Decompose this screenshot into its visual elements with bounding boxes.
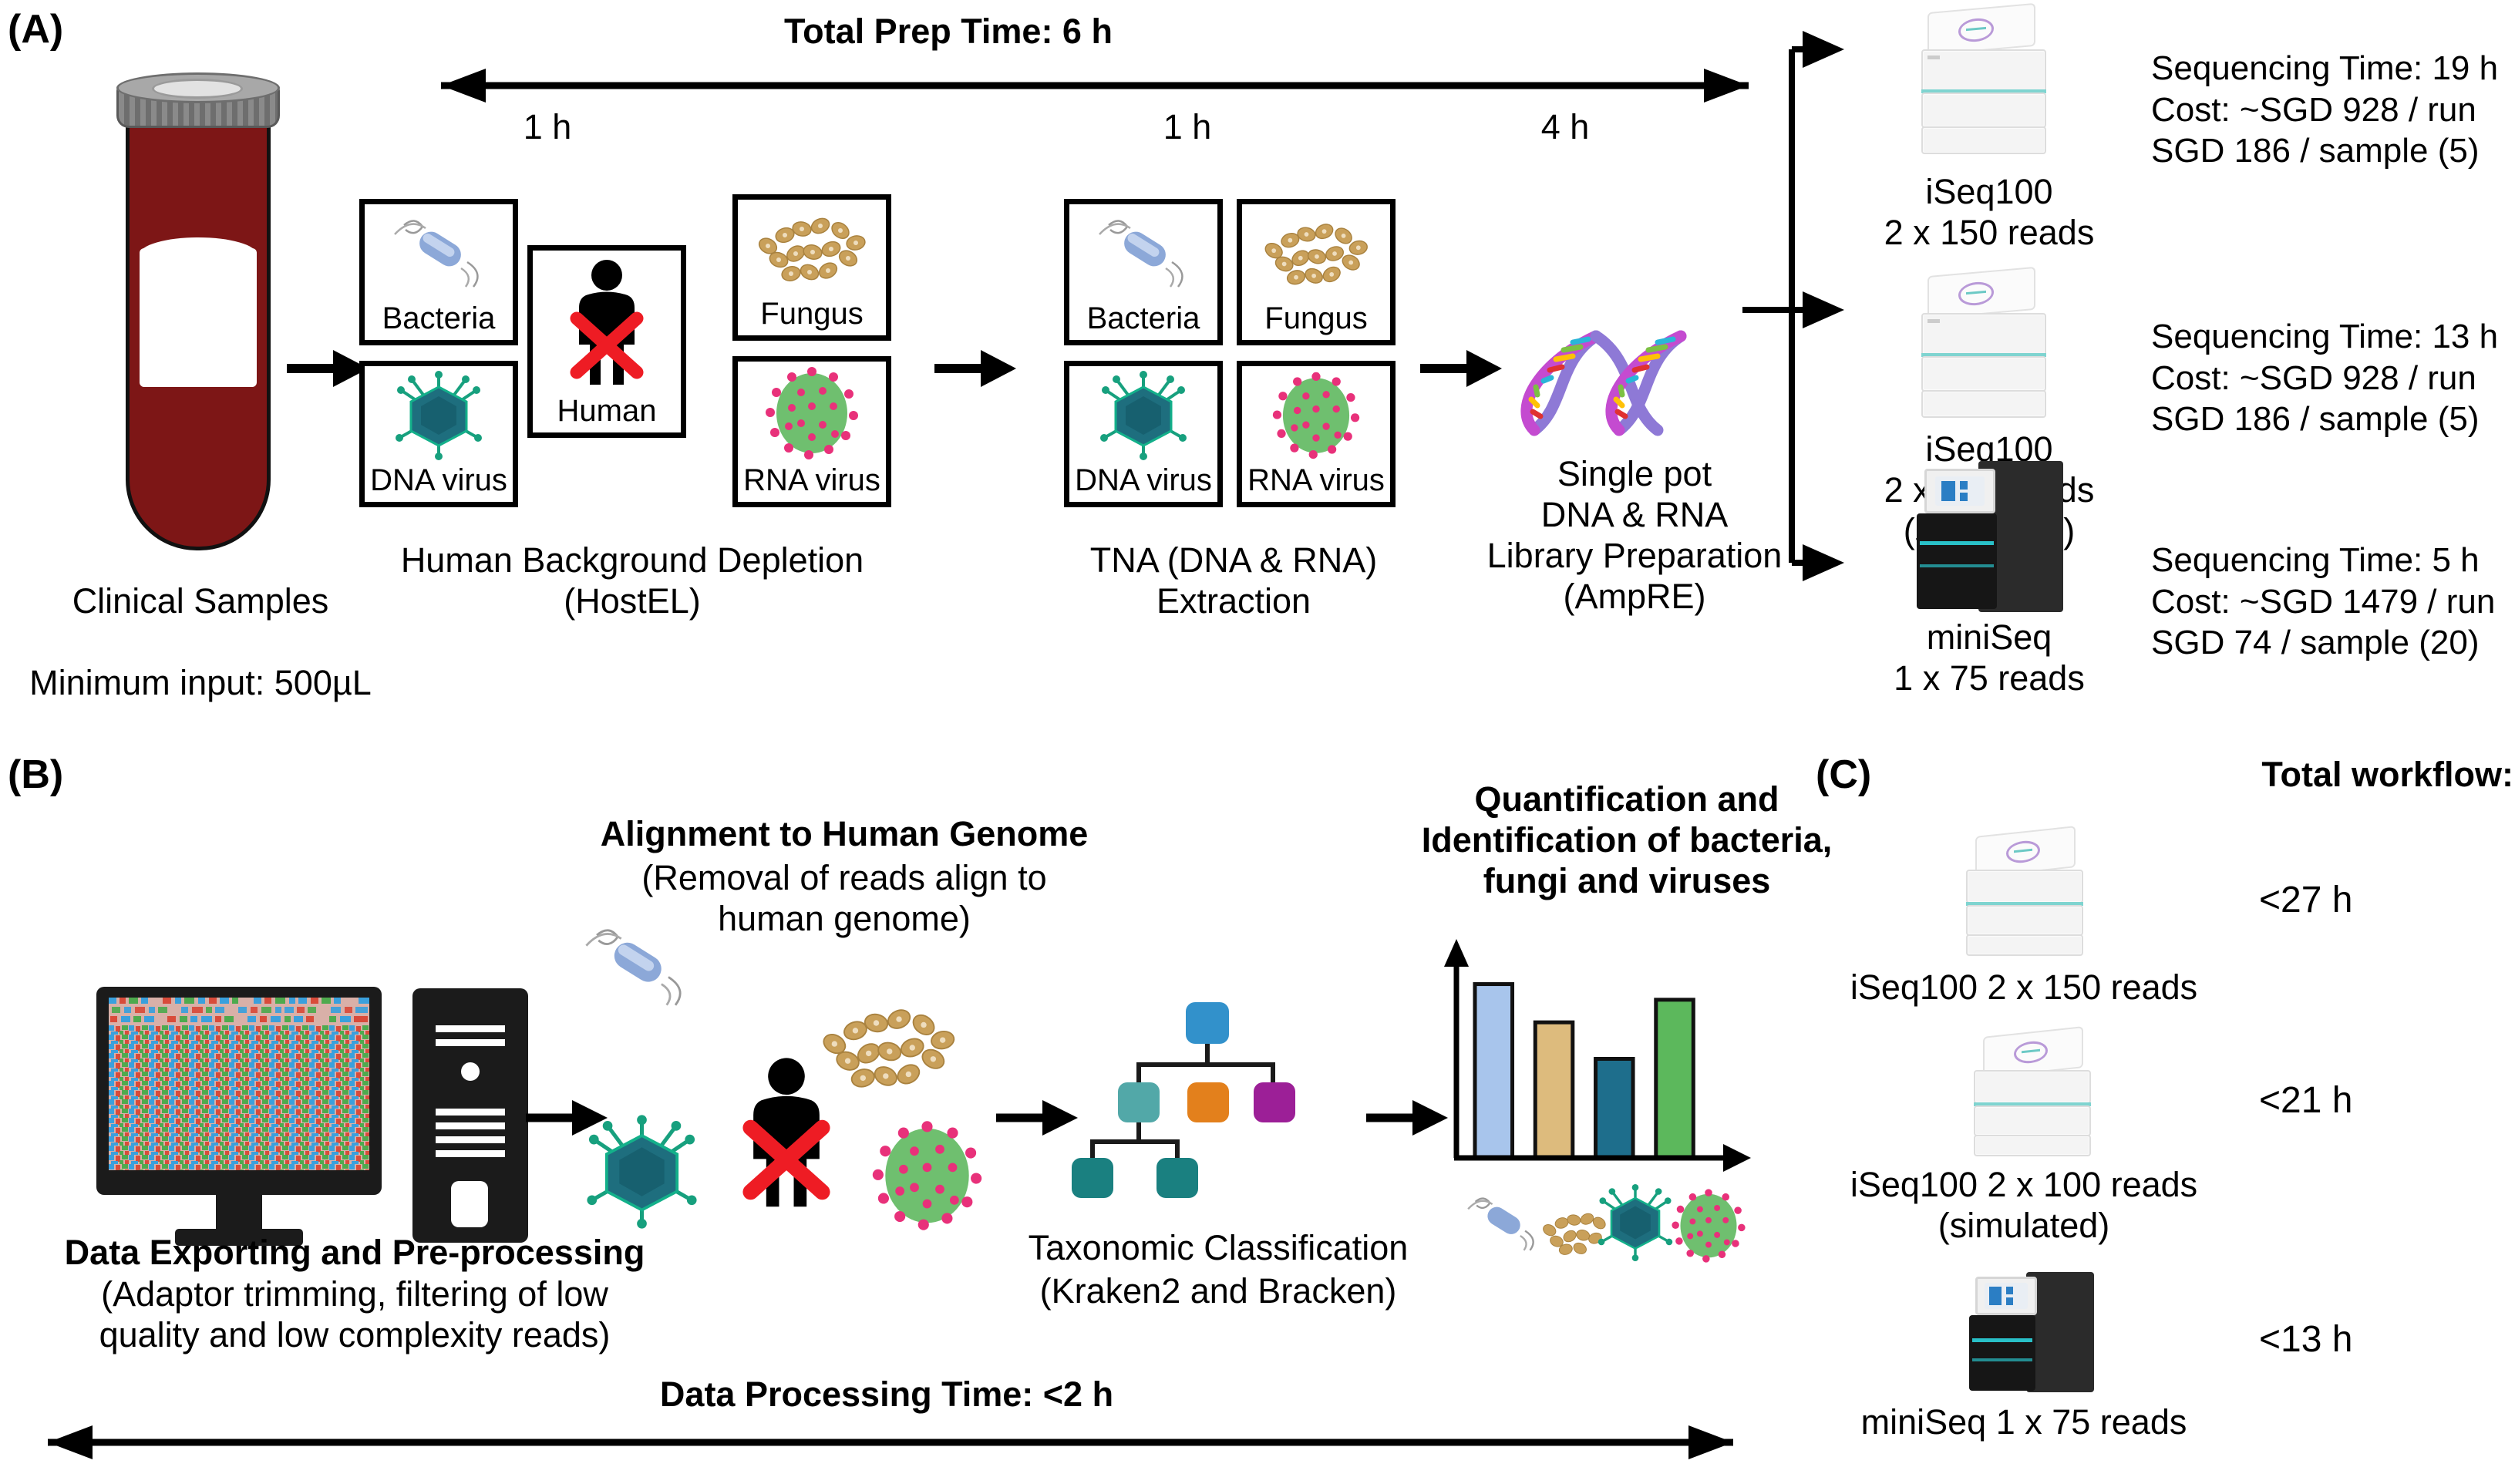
extraction-box-fungus: Fungus — [1237, 199, 1396, 345]
depletion-box-fungus: Fungus — [732, 194, 891, 341]
tree-node-1 — [1118, 1082, 1160, 1122]
depletion-box-bacteria: Bacteria — [359, 199, 518, 345]
rna-virus-icon — [1242, 366, 1390, 465]
panel-c-row-2-label: iSeq100 2 x 100 reads (simulated) — [1831, 1164, 2217, 1246]
dna-virus-icon — [365, 366, 513, 465]
bar-chart-icon — [1430, 933, 1754, 1187]
sequencer-3-stats: Sequencing Time: 5 h Cost: ~SGD 1479 / r… — [2151, 540, 2515, 664]
panel-a-letter: (A) — [8, 6, 63, 52]
sequencer-2-stats: Sequencing Time: 13 h Cost: ~SGD 928 / r… — [2151, 316, 2515, 440]
panel-c-row-3-time: <13 h — [2259, 1318, 2352, 1361]
tree-node-root — [1186, 1002, 1229, 1044]
chart-bar — [1656, 1000, 1694, 1158]
human-crossed-icon — [725, 1056, 848, 1214]
clinical-sample-tube-icon — [112, 17, 289, 557]
step-time-2: 1 h — [1133, 106, 1241, 147]
fungus-icon — [1242, 204, 1390, 303]
arrow-to-depletion — [285, 345, 370, 392]
human-crossed-icon — [533, 251, 681, 395]
tree-node-2 — [1187, 1082, 1229, 1122]
tree-node-4 — [1072, 1158, 1113, 1198]
dna-helix-icon — [1511, 315, 1742, 457]
box-label: RNA virus — [743, 465, 880, 496]
iseq100-icon — [1911, 271, 2065, 422]
depletion-box-dna-virus: DNA virus — [359, 361, 518, 507]
box-label: RNA virus — [1247, 465, 1385, 496]
step1-subtitle: (Adaptor trimming, filtering of low qual… — [8, 1274, 702, 1355]
extraction-box-dna-virus: DNA virus — [1064, 361, 1223, 507]
box-label: Fungus — [760, 298, 863, 329]
step-time-3: 4 h — [1511, 106, 1619, 147]
box-label: DNA virus — [1075, 465, 1212, 496]
step3-subtitle: (Kraken2 and Bracken) — [964, 1270, 1473, 1311]
sequencer-3-name: miniSeq 1 x 75 reads — [1827, 617, 2151, 698]
box-label: DNA virus — [370, 465, 507, 496]
panel-c-letter: (C) — [1816, 752, 1871, 798]
dna-virus-icon — [578, 1114, 705, 1233]
depletion-box-rna-virus: RNA virus — [732, 356, 891, 507]
chart-cat-icon-rna-virus — [1665, 1187, 1752, 1268]
bacteria-icon — [365, 204, 513, 303]
chart-bar — [1596, 1058, 1634, 1158]
depletion-caption: Human Background Depletion (HostEL) — [324, 540, 941, 621]
step3-title: Taxonomic Classification — [964, 1227, 1473, 1268]
arrow-to-extraction — [933, 345, 1018, 392]
panel-c-title: Total workflow: — [2113, 754, 2513, 795]
chart-bar — [1535, 1022, 1573, 1158]
rna-virus-icon — [864, 1118, 991, 1237]
extraction-box-bacteria: Bacteria — [1064, 199, 1223, 345]
tree-node-5 — [1156, 1158, 1198, 1198]
step-time-1: 1 h — [493, 106, 601, 147]
clinical-sample-line2: Minimum input: 500µL — [15, 662, 385, 703]
iseq100-icon — [1911, 8, 2065, 158]
box-label: Human — [557, 395, 657, 426]
iseq100-icon — [1958, 831, 2089, 962]
arrow-to-library-prep — [1419, 345, 1503, 392]
depletion-box-human: Human — [527, 245, 686, 438]
bacteria-icon — [1069, 204, 1217, 303]
panel-c-row-3-label: miniSeq 1 x 75 reads — [1831, 1402, 2217, 1442]
dna-virus-icon — [1069, 366, 1217, 465]
chart-bar — [1475, 984, 1513, 1158]
miniseq-icon — [1904, 461, 2082, 615]
data-processing-time-arrow — [8, 1425, 1773, 1460]
sequencer-1-name: iSeq100 2 x 150 reads — [1827, 171, 2151, 253]
total-prep-time-arrow — [401, 68, 1789, 103]
sequencer-1-stats: Sequencing Time: 19 h Cost: ~SGD 928 / r… — [2151, 48, 2515, 172]
extraction-caption: TNA (DNA & RNA) Extraction — [1033, 540, 1434, 621]
box-label: Bacteria — [382, 303, 496, 334]
panel-c-row-1-label: iSeq100 2 x 150 reads — [1831, 967, 2217, 1008]
fungus-icon — [738, 200, 886, 298]
taxonomy-tree-icon — [1101, 1002, 1355, 1233]
panel-c-row-1-time: <27 h — [2259, 879, 2352, 921]
extraction-box-rna-virus: RNA virus — [1237, 361, 1396, 507]
iseq100-icon — [1966, 1031, 2097, 1163]
panel-b-letter: (B) — [8, 752, 63, 798]
arrow-b-2 — [995, 1095, 1079, 1141]
step1-title: Data Exporting and Pre-processing — [0, 1232, 709, 1273]
data-processing-time-label: Data Processing Time: <2 h — [540, 1374, 1234, 1415]
step2-title: Alignment to Human Genome — [540, 813, 1149, 854]
total-prep-time-label: Total Prep Time: 6 h — [678, 11, 1218, 52]
rna-virus-icon — [738, 362, 886, 465]
tree-node-3 — [1254, 1082, 1295, 1122]
bacteria-icon — [571, 917, 702, 1021]
panel-c-row-2-time: <21 h — [2259, 1079, 2352, 1122]
miniseq-icon — [1958, 1272, 2105, 1395]
box-label: Bacteria — [1087, 303, 1200, 334]
box-label: Fungus — [1264, 303, 1367, 334]
